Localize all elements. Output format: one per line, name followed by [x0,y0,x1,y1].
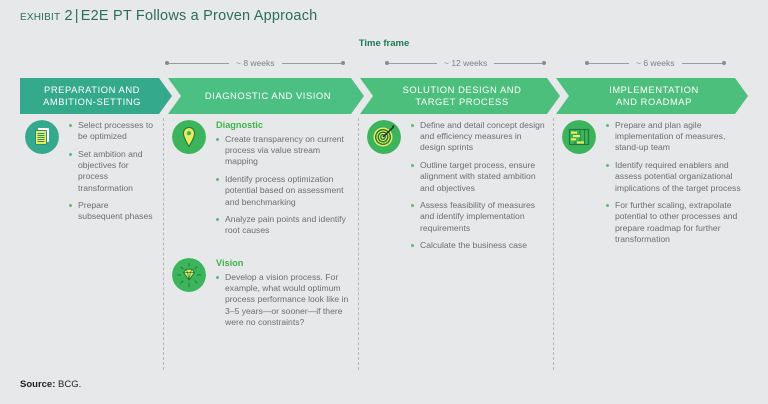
phase-banner-solution-design[interactable]: SOLUTION DESIGN AND TARGET PROCESS [360,78,560,114]
bullet-group-diagnostic: Diagnostic Create transparency on curren… [172,120,354,250]
segment-line-right [682,63,722,64]
list-item: For further scaling, extrapolate potenti… [606,200,748,245]
timeframe-segment-3: ~ 6 weeks [585,55,748,71]
banner-line-1: IMPLEMENTATION [609,84,699,95]
phase-column-preparation: Select processes to be optimized Set amb… [25,120,155,229]
target-icon [367,120,401,154]
list-item: Develop a vision process. For example, w… [216,272,354,328]
bullet-group: Prepare and plan agile implementation of… [606,120,748,245]
segment-line-right [494,63,542,64]
column-divider-1 [163,118,164,370]
list-item: Prepare and plan agile implementation of… [606,120,748,154]
timeframe-segment-text: ~ 6 weeks [629,58,682,68]
subsection-heading: Diagnostic [216,120,354,131]
list-item: Outline target process, ensure alignment… [411,160,549,194]
bullet-group-vision: Vision Develop a vision process. For exa… [172,258,354,328]
banner-label: PREPARATION AND AMBITION-SETTING [43,84,141,108]
map-pin-icon [172,120,206,154]
source-note: Source: BCG. [20,379,81,390]
bullet-list: Select processes to be optimized Set amb… [69,120,155,223]
list-item: Set ambition and objectives for process … [69,149,155,194]
target-icon-svg [367,120,401,154]
documents-icon [25,120,59,154]
segment-end-dot [341,61,345,65]
segment-line-right [282,63,341,64]
segment-line-left [589,63,629,64]
diamond-icon [172,258,206,292]
bullet-group: Select processes to be optimized Set amb… [69,120,155,223]
list-item: Select processes to be optimized [69,120,155,142]
documents-icon-svg [25,120,59,154]
phase-column-diagnostic: Diagnostic Create transparency on curren… [172,120,354,335]
bullet-list: Prepare and plan agile implementation of… [606,120,748,245]
phase-column-implementation: Prepare and plan agile implementation of… [562,120,748,252]
timeframe-label: Time frame [0,38,768,49]
timeframe-row: ~ 8 weeks ~ 12 weeks ~ 6 weeks [0,55,768,71]
list-item: Prepare subsequent phases [69,200,155,222]
gantt-chart-icon-svg [562,120,596,154]
banner-label: DIAGNOSTIC AND VISION [205,90,331,102]
banner-label: SOLUTION DESIGN AND TARGET PROCESS [403,84,522,108]
banner-line-1: DIAGNOSTIC AND VISION [205,90,331,101]
list-item: Define and detail concept design and eff… [411,120,549,154]
bullet-group: Define and detail concept design and eff… [411,120,549,252]
banner-label: IMPLEMENTATION AND ROADMAP [609,84,699,108]
diamond-icon-svg [172,258,206,292]
segment-line-left [389,63,437,64]
subsection-heading: Vision [216,258,354,269]
list-item: Identify process optimization potential … [216,174,354,208]
banner-line-2: TARGET PROCESS [415,96,508,107]
segment-line-left [169,63,229,64]
banner-line-1: PREPARATION AND [44,84,140,95]
exhibit-label: Exhibit 2 [20,8,73,24]
title-text: E2E PT Follows a Proven Approach [81,8,318,24]
source-label: Source: [20,379,55,390]
phase-column-solution-design: Define and detail concept design and eff… [367,120,549,258]
phase-banner-diagnostic[interactable]: DIAGNOSTIC AND VISION [168,78,364,114]
list-item: Identify required enablers and assess po… [606,160,748,194]
banner-line-1: SOLUTION DESIGN AND [403,84,522,95]
timeframe-segment-2: ~ 12 weeks [385,55,579,71]
bullet-list: Develop a vision process. For example, w… [216,272,354,328]
banner-line-2: AMBITION-SETTING [43,96,141,107]
list-item: Create transparency on current process v… [216,134,354,168]
segment-end-dot [542,61,546,65]
list-item: Calculate the business case [411,240,549,251]
timeframe-segment-text: ~ 12 weeks [437,58,494,68]
column-divider-3 [553,118,554,370]
list-item: Assess feasibility of measures and ident… [411,200,549,234]
column-divider-2 [358,118,359,370]
phase-banner-implementation[interactable]: IMPLEMENTATION AND ROADMAP [556,78,748,114]
banner-line-2: AND ROADMAP [616,96,692,107]
page-title: Exhibit 2|E2E PT Follows a Proven Approa… [20,8,317,24]
bullet-list: Define and detail concept design and eff… [411,120,549,252]
bullet-list: Create transparency on current process v… [216,134,354,237]
list-item: Analyze pain points and identify root ca… [216,214,354,236]
segment-end-dot [722,61,726,65]
timeframe-segment-1: ~ 8 weeks [165,55,378,71]
gantt-chart-icon [562,120,596,154]
map-pin-icon-svg [172,120,206,154]
source-value: BCG. [58,379,81,390]
title-separator: | [73,8,81,24]
timeframe-segment-text: ~ 8 weeks [229,58,282,68]
phase-banner-preparation[interactable]: PREPARATION AND AMBITION-SETTING [20,78,172,114]
